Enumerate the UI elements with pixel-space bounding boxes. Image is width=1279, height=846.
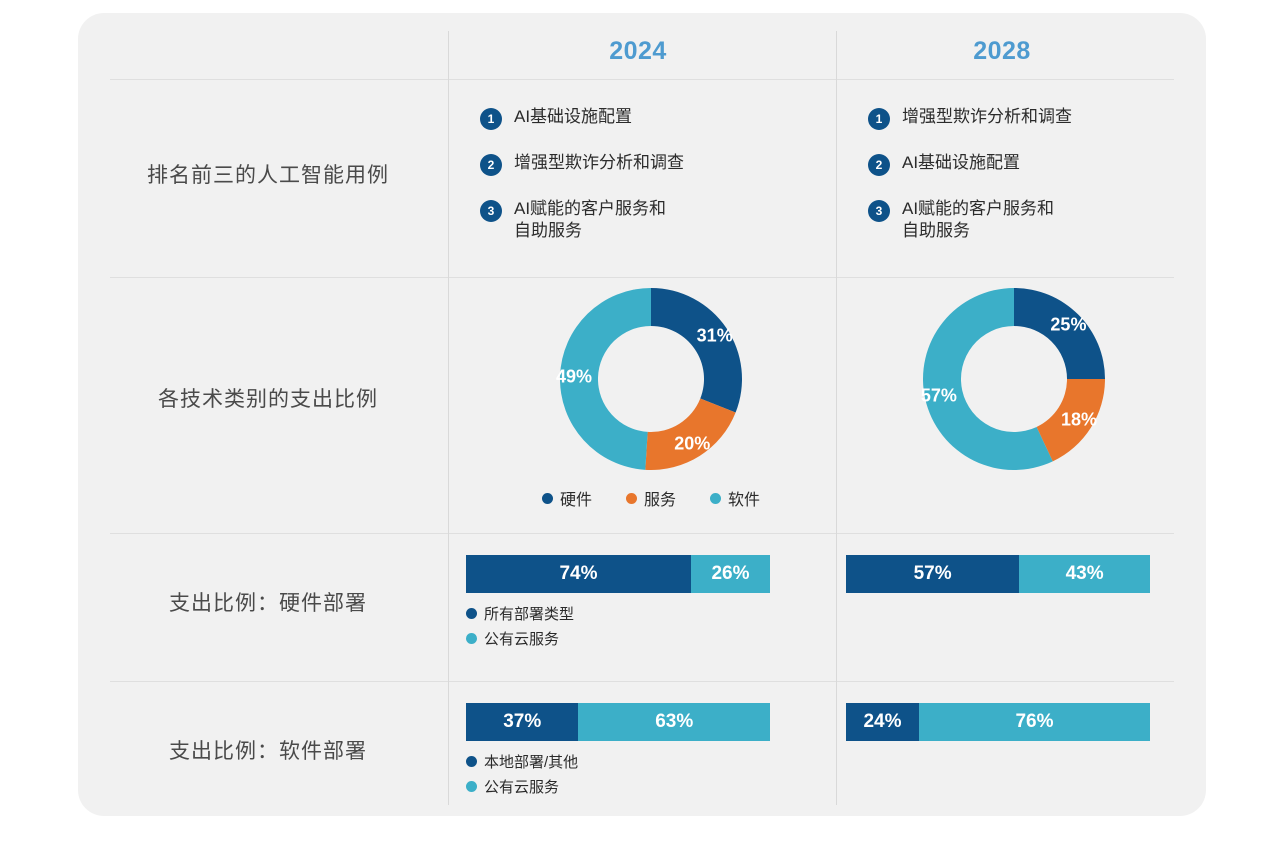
rank-badge-icon: 2	[480, 154, 502, 176]
row-4-label: 支出比例：软件部署	[110, 677, 448, 823]
stacked-bar-track: 37% 63%	[466, 703, 770, 741]
legend-item: 硬件	[542, 486, 592, 510]
row-2-cell-2028: 25%18%57% 硬件	[836, 269, 1174, 527]
rank-item-label: AI赋能的客户服务和 自助服务	[902, 198, 1054, 243]
row-4-cell-2024: 37% 63% 本地部署/其他 公有云服务	[448, 677, 836, 823]
row-3-label-cell: 支出比例：硬件部署	[110, 529, 448, 675]
donut-slice-label: 49%	[556, 366, 592, 387]
row-3-label: 支出比例：硬件部署	[110, 529, 448, 675]
legend-dot-services-icon	[626, 493, 637, 504]
legend-label: 本地部署/其他	[484, 751, 578, 772]
donut-graphic: 25%18%57%	[921, 286, 1107, 472]
legend-label: 服务	[644, 486, 676, 510]
row-2-label: 各技术类别的支出比例	[110, 269, 448, 527]
table-row: 各技术类别的支出比例 31%20%49% 硬件	[110, 269, 1174, 527]
legend-item: 公有云服务	[466, 628, 836, 649]
donut-slice-label: 25%	[1050, 314, 1086, 335]
row-3-cell-2024: 74% 26% 所有部署类型 公有云服务	[448, 529, 836, 675]
donut-slice-label: 18%	[1061, 410, 1097, 431]
header-cell-2024: 2024	[448, 23, 836, 79]
bar-legend-software: 本地部署/其他 公有云服务	[466, 751, 836, 797]
stacked-bar-track: 57% 43%	[846, 555, 1150, 593]
legend-dot-public-cloud-icon	[466, 633, 477, 644]
rank-badge-icon: 3	[480, 200, 502, 222]
bar-segment-secondary: 43%	[1019, 555, 1150, 593]
list-item: 1 增强型欺诈分析和调查	[868, 106, 1174, 130]
bar-segment-secondary: 63%	[578, 703, 770, 741]
stacked-bar-2028-hardware: 57% 43% 所有部署类型 公有云服务	[836, 529, 1174, 675]
rank-item-label: AI赋能的客户服务和 自助服务	[514, 198, 666, 243]
legend-label: 公有云服务	[484, 776, 559, 797]
legend-label: 硬件	[560, 486, 592, 510]
bar-segment-secondary: 76%	[919, 703, 1150, 741]
row-1-cell-2024: 1 AI基础设施配置 2 增强型欺诈分析和调查 3 AI赋能的客户服务和 自助服…	[448, 81, 836, 267]
header-cell-2028: 2028	[836, 23, 1174, 79]
comparison-grid: 2024 2028 排名前三的人工智能用例 1 AI基础设施配置	[110, 13, 1174, 816]
bar-segment-primary: 37%	[466, 703, 578, 741]
header-label-cell	[110, 23, 448, 79]
legend-label: 公有云服务	[484, 628, 559, 649]
screenshot-root: 2024 2028 排名前三的人工智能用例 1 AI基础设施配置	[0, 0, 1279, 846]
list-item: 2 增强型欺诈分析和调查	[480, 152, 836, 176]
table-row: 支出比例：硬件部署 74% 26% 所有部署类型	[110, 529, 1174, 675]
year-2024-label: 2024	[448, 23, 836, 79]
bar-segment-primary: 57%	[846, 555, 1019, 593]
rank-item-label: AI基础设施配置	[902, 152, 1020, 174]
list-item: 3 AI赋能的客户服务和 自助服务	[868, 198, 1174, 243]
list-item: 1 AI基础设施配置	[480, 106, 836, 130]
donut-slice-label: 31%	[697, 325, 733, 346]
bar-segment-primary: 24%	[846, 703, 919, 741]
table-row: 支出比例：软件部署 37% 63% 本地部署/其他	[110, 677, 1174, 823]
rank-item-label: 增强型欺诈分析和调查	[514, 152, 684, 174]
rank-item-label: 增强型欺诈分析和调查	[902, 106, 1072, 128]
legend-item: 软件	[710, 486, 760, 510]
donut-slice-label: 57%	[921, 385, 957, 406]
legend-item: 公有云服务	[466, 776, 836, 797]
stacked-bar-2024-software: 37% 63% 本地部署/其他 公有云服务	[448, 677, 836, 823]
legend-item: 所有部署类型	[466, 603, 836, 624]
rank-item-label: AI基础设施配置	[514, 106, 632, 128]
legend-item: 服务	[626, 486, 676, 510]
donut-chart-2024: 31%20%49% 硬件 服务	[448, 269, 836, 527]
legend-label: 所有部署类型	[484, 603, 574, 624]
table-row: 排名前三的人工智能用例 1 AI基础设施配置 2 增强型欺诈分析和调查	[110, 81, 1174, 267]
stacked-bar-track: 74% 26%	[466, 555, 770, 593]
rank-badge-icon: 3	[868, 200, 890, 222]
donut-slice-label: 20%	[674, 434, 710, 455]
rank-badge-icon: 2	[868, 154, 890, 176]
ranked-list-2028: 1 增强型欺诈分析和调查 2 AI基础设施配置 3 AI赋能的客户服务和 自助服…	[836, 81, 1174, 267]
row-4-cell-2028: 24% 76% 本地部署/其他 公有云服务	[836, 677, 1174, 823]
legend-label: 软件	[728, 486, 760, 510]
legend-dot-software-icon	[710, 493, 721, 504]
row-2-label-cell: 各技术类别的支出比例	[110, 269, 448, 527]
row-2-cell-2024: 31%20%49% 硬件 服务	[448, 269, 836, 527]
row-1-cell-2028: 1 增强型欺诈分析和调查 2 AI基础设施配置 3 AI赋能的客户服务和 自助服…	[836, 81, 1174, 267]
donut-graphic: 31%20%49%	[558, 286, 744, 472]
donut-legend-2024: 硬件 服务 软件	[542, 486, 760, 510]
list-item: 3 AI赋能的客户服务和 自助服务	[480, 198, 836, 243]
donut-slice	[651, 288, 742, 412]
donut-chart-2028: 25%18%57% 硬件	[836, 269, 1174, 527]
bar-legend-hardware: 所有部署类型 公有云服务	[466, 603, 836, 649]
row-3-cell-2028: 57% 43% 所有部署类型 公有云服务	[836, 529, 1174, 675]
bar-segment-primary: 74%	[466, 555, 691, 593]
row-1-label: 排名前三的人工智能用例	[110, 81, 448, 267]
legend-item: 本地部署/其他	[466, 751, 836, 772]
bar-segment-secondary: 26%	[691, 555, 770, 593]
ranked-list-2024: 1 AI基础设施配置 2 增强型欺诈分析和调查 3 AI赋能的客户服务和 自助服…	[448, 81, 836, 267]
row-4-label-cell: 支出比例：软件部署	[110, 677, 448, 823]
stacked-bar-track: 24% 76%	[846, 703, 1150, 741]
year-2028-label: 2028	[836, 23, 1174, 79]
rank-badge-icon: 1	[868, 108, 890, 130]
table-header-row: 2024 2028	[110, 23, 1174, 79]
stacked-bar-2024-hardware: 74% 26% 所有部署类型 公有云服务	[448, 529, 836, 675]
stacked-bar-2028-software: 24% 76% 本地部署/其他 公有云服务	[836, 677, 1174, 823]
rank-badge-icon: 1	[480, 108, 502, 130]
legend-dot-hardware-icon	[542, 493, 553, 504]
legend-dot-all-deployment-icon	[466, 608, 477, 619]
comparison-card: 2024 2028 排名前三的人工智能用例 1 AI基础设施配置	[78, 13, 1206, 816]
legend-dot-on-prem-icon	[466, 756, 477, 767]
legend-dot-public-cloud-icon	[466, 781, 477, 792]
row-divider-header	[110, 79, 1174, 80]
row-1-label-cell: 排名前三的人工智能用例	[110, 81, 448, 267]
list-item: 2 AI基础设施配置	[868, 152, 1174, 176]
